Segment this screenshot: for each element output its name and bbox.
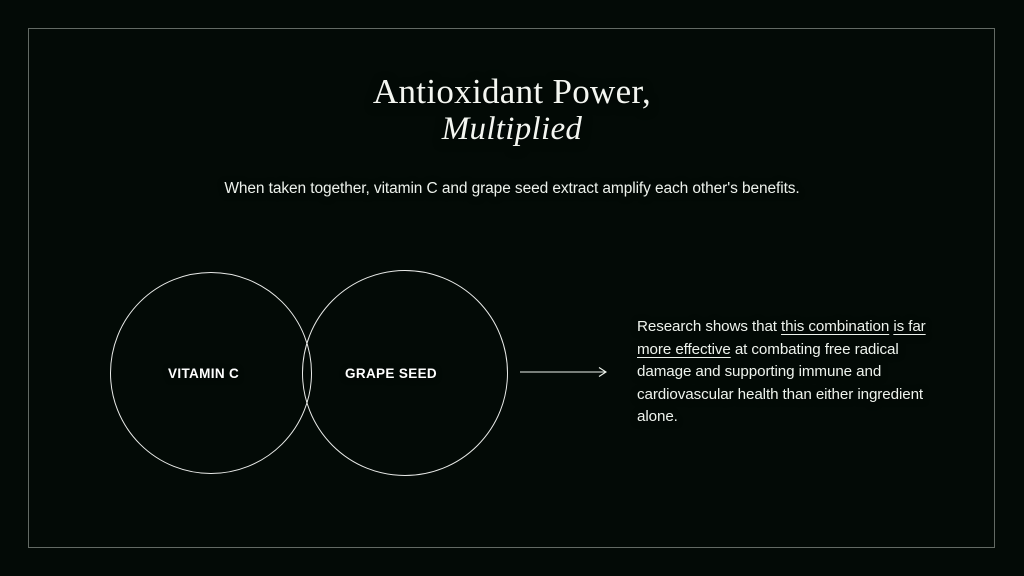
research-paragraph: Research shows that this combination is … xyxy=(637,316,927,429)
arrow-right-icon xyxy=(519,364,611,380)
page-title: Antioxidant Power, Multiplied xyxy=(0,74,1024,146)
title-line-2: Multiplied xyxy=(0,113,1024,147)
paragraph-emphasis-1: this combination xyxy=(781,318,889,335)
title-line-1: Antioxidant Power, xyxy=(0,74,1024,110)
paragraph-part-1: Research shows that xyxy=(637,318,781,335)
subtitle-text: When taken together, vitamin C and grape… xyxy=(0,180,1024,198)
slide-canvas: Antioxidant Power, Multiplied When taken… xyxy=(0,0,1024,576)
